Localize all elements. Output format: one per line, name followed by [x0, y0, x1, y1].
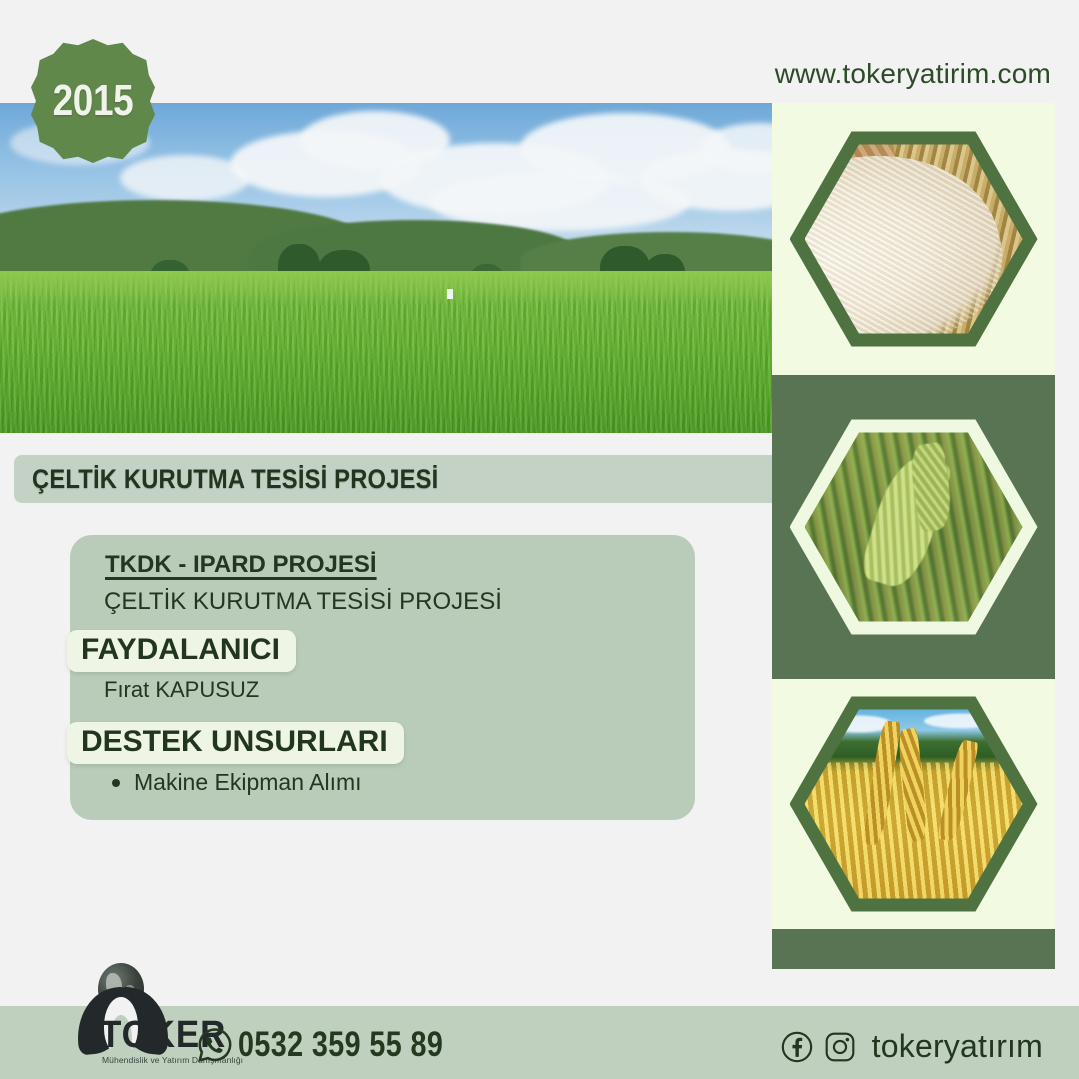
footer-bar: TOKER Mühendislik ve Yatırım Danışmanlığ… — [0, 1006, 1079, 1079]
cloud-icon — [924, 713, 998, 728]
hexagon-border — [790, 697, 1038, 912]
project-details-card: TKDK - IPARD PROJESİ ÇELTİK KURUTMA TESİ… — [70, 535, 695, 820]
project-name: ÇELTİK KURUTMA TESİSİ PROJESİ — [104, 588, 502, 616]
green-rice-ear-closeup-image — [805, 433, 1023, 622]
year-badge-label: 2015 — [53, 76, 134, 126]
whatsapp-icon — [196, 1026, 234, 1064]
white-rice-pile — [805, 145, 1020, 334]
poster-canvas: 2015 www.tokeryatirim.com ÇELTİK KURUTMA… — [0, 0, 1079, 1079]
beneficiary-name: Fırat KAPUSUZ — [104, 677, 259, 703]
project-title-bar: ÇELTİK KURUTMA TESİSİ PROJESİ — [14, 455, 814, 503]
beneficiary-label: FAYDALANICI — [67, 630, 296, 672]
hexagon-border — [790, 132, 1038, 347]
support-label: DESTEK UNSURLARI — [67, 722, 404, 764]
milled-white-rice-in-basket-image — [805, 145, 1023, 334]
instagram-icon[interactable] — [823, 1030, 857, 1064]
gallery-panel-rice-grains — [772, 103, 1055, 375]
hexagon-frame — [790, 420, 1038, 635]
hexagon-frame — [790, 697, 1038, 912]
page-title: ÇELTİK KURUTMA TESİSİ PROJESİ — [32, 464, 438, 495]
gallery-bottom-band — [772, 929, 1055, 969]
hill-range — [0, 198, 772, 278]
gallery-panel-green-rice — [772, 375, 1055, 679]
website-url[interactable]: www.tokeryatirim.com — [775, 58, 1051, 90]
hexagon-border — [790, 420, 1038, 635]
facebook-icon[interactable] — [780, 1030, 814, 1064]
social-handle: tokeryatırım — [872, 1028, 1043, 1065]
gallery-panel-golden-field — [772, 679, 1055, 929]
hexagon-frame — [790, 132, 1038, 347]
rice-paddy-foreground — [0, 271, 772, 433]
bullet-dot-icon — [112, 779, 120, 787]
phone-contact[interactable]: 0532 359 55 89 — [196, 1025, 488, 1065]
support-item-label: Makine Ekipman Alımı — [134, 769, 362, 796]
phone-number: 0532 359 55 89 — [238, 1025, 443, 1065]
toker-logo: TOKER Mühendislik ve Yatırım Danışmanlığ… — [58, 963, 198, 1073]
program-heading: TKDK - IPARD PROJESİ — [105, 551, 377, 579]
golden-ripe-rice-field-image — [805, 710, 1023, 899]
field-marker — [447, 289, 453, 299]
gallery-column — [772, 103, 1055, 969]
list-item: Makine Ekipman Alımı — [112, 769, 362, 796]
year-badge: 2015 — [31, 39, 155, 163]
social-links[interactable]: tokeryatırım — [780, 1028, 1043, 1065]
